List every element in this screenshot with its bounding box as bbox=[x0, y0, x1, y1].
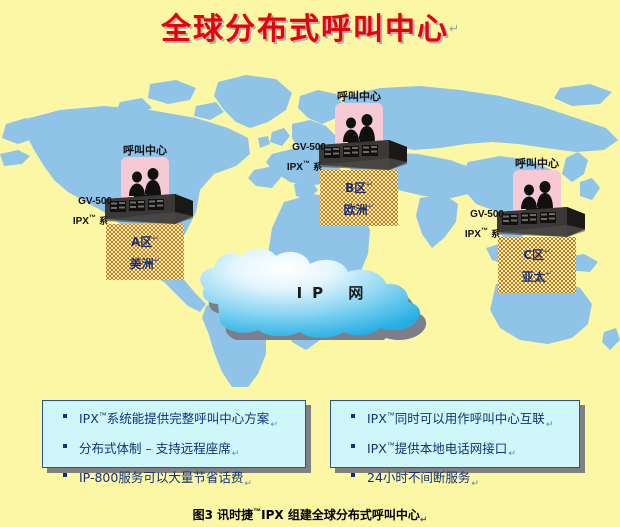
bullet-icon bbox=[63, 473, 67, 477]
pilcrow-mark: ↵ bbox=[152, 234, 159, 243]
site-node-europe[interactable]: 呼叫中心 bbox=[320, 88, 398, 228]
trademark-mark: ™ bbox=[89, 215, 96, 222]
region-code-text-europe: B区 bbox=[345, 181, 366, 195]
region-name-text-americas: 美洲 bbox=[130, 257, 154, 271]
trademark-mark: ™ bbox=[387, 441, 395, 450]
system-label-asiapac: IPX™系 bbox=[465, 227, 500, 240]
ip-network-cloud: IP 网 bbox=[196, 248, 464, 340]
system-label-text-americas: IPX bbox=[73, 216, 89, 227]
region-name-asiapac: 亚太↵ bbox=[498, 268, 576, 285]
region-code-text-asiapac: C区 bbox=[523, 248, 544, 262]
pilcrow-mark: ↵ bbox=[420, 515, 428, 525]
feature-right-item-1: IPX™同时可以用作呼叫中心互联↵ bbox=[367, 407, 573, 434]
feature-right-item-3-post: 24小时不间断服务 bbox=[367, 470, 470, 485]
list-item: IPX™系统能提供完整呼叫中心方案↵ bbox=[49, 407, 299, 434]
region-name-americas: 美洲↵ bbox=[106, 255, 184, 272]
pilcrow-mark: ↵ bbox=[368, 202, 375, 211]
page-title-text: 全球分布式呼叫中心 bbox=[161, 4, 449, 48]
system-label-europe: IPX™系 bbox=[287, 160, 322, 173]
bullet-icon bbox=[63, 444, 67, 448]
trademark-mark: ™ bbox=[253, 507, 261, 516]
trademark-mark: ™ bbox=[481, 228, 488, 235]
pilcrow-mark: ↵ bbox=[508, 449, 516, 459]
gv500-chassis-europe bbox=[319, 140, 407, 170]
server-chassis-icon bbox=[319, 140, 407, 170]
site-title-asiapac: 呼叫中心 bbox=[515, 155, 559, 171]
site-node-americas[interactable]: 呼叫中心 bbox=[106, 142, 184, 282]
list-item: 24小时不间断服务↵ bbox=[337, 466, 573, 493]
region-code-text-americas: A区 bbox=[131, 235, 152, 249]
trademark-mark: ™ bbox=[387, 411, 395, 420]
feature-left-item-2-post: 分布式体制 – 支持远程座席 bbox=[79, 441, 231, 456]
gv500-chassis-americas bbox=[105, 194, 193, 224]
device-label-asiapac: GV-500 bbox=[470, 209, 504, 220]
ip-cloud-label-text: IP 网 bbox=[297, 284, 374, 302]
region-name-text-asiapac: 亚太 bbox=[522, 270, 546, 284]
pilcrow-mark: ↵ bbox=[154, 256, 161, 265]
feature-right-item-2: IPX™提供本地电话网接口↵ bbox=[367, 437, 573, 464]
region-box-asiapac: C区↵ 亚太↵ bbox=[498, 237, 576, 293]
list-item: 分布式体制 – 支持远程座席↵ bbox=[49, 437, 299, 464]
pilcrow-mark: ↵ bbox=[471, 479, 479, 489]
device-label-europe: GV-500 bbox=[292, 142, 326, 153]
site-title-americas: 呼叫中心 bbox=[123, 142, 167, 158]
pilcrow-mark: ↵ bbox=[232, 449, 240, 459]
pilcrow-mark: ↵ bbox=[270, 420, 278, 430]
region-code-americas: A区↵ bbox=[106, 233, 184, 250]
diagram-page: 全球分布式呼叫中心↵ bbox=[0, 0, 620, 527]
list-item: IPX™提供本地电话网接口↵ bbox=[337, 437, 573, 464]
trademark-mark: ™ bbox=[303, 161, 310, 168]
ip-cloud-label: IP 网 bbox=[196, 282, 464, 303]
figure-caption: 图3 讯时捷™IPX 组建全球分布式呼叫中心↵ bbox=[0, 506, 620, 525]
feature-box-left: IPX™系统能提供完整呼叫中心方案↵ 分布式体制 – 支持远程座席↵ IP-80… bbox=[42, 400, 306, 468]
feature-left-item-2: 分布式体制 – 支持远程座席↵ bbox=[79, 437, 299, 464]
bullet-icon bbox=[351, 414, 355, 418]
feature-left-item-3-post: IP-800服务可以大量节省话费 bbox=[79, 470, 243, 485]
feature-right-item-1-pre: IPX bbox=[367, 411, 387, 426]
pilcrow-mark: ↵ bbox=[366, 180, 373, 189]
server-chassis-icon bbox=[497, 207, 585, 237]
bullet-icon bbox=[351, 473, 355, 477]
feature-right-item-2-pre: IPX bbox=[367, 441, 387, 456]
region-code-asiapac: C区↵ bbox=[498, 246, 576, 263]
region-name-text-europe: 欧洲 bbox=[344, 203, 368, 217]
region-box-americas: A区↵ 美洲↵ bbox=[106, 224, 184, 280]
system-label-text-asiapac: IPX bbox=[465, 229, 481, 240]
pilcrow-mark: ↵ bbox=[449, 22, 459, 36]
caption-suffix: IPX 组建全球分布式呼叫中心 bbox=[261, 508, 420, 522]
system-label-text-europe: IPX bbox=[287, 162, 303, 173]
region-code-europe: B区↵ bbox=[320, 179, 398, 196]
pilcrow-mark: ↵ bbox=[546, 269, 553, 278]
feature-left-item-3: IP-800服务可以大量节省话费↵ bbox=[79, 466, 299, 493]
system-label-americas: IPX™系 bbox=[73, 214, 108, 227]
feature-right-item-1-post: 同时可以用作呼叫中心互联 bbox=[395, 411, 545, 426]
list-item: IP-800服务可以大量节省话费↵ bbox=[49, 466, 299, 493]
page-title: 全球分布式呼叫中心↵ bbox=[0, 4, 620, 48]
list-item: IPX™同时可以用作呼叫中心互联↵ bbox=[337, 407, 573, 434]
region-name-europe: 欧洲↵ bbox=[320, 201, 398, 218]
feature-right-item-2-post: 提供本地电话网接口 bbox=[395, 441, 508, 456]
trademark-mark: ™ bbox=[99, 411, 107, 420]
feature-left-item-1: IPX™系统能提供完整呼叫中心方案↵ bbox=[79, 407, 299, 434]
caption-prefix: 图3 讯时捷 bbox=[193, 508, 254, 522]
device-label-americas: GV-500 bbox=[78, 196, 112, 207]
server-chassis-icon bbox=[105, 194, 193, 224]
feature-box-right: IPX™同时可以用作呼叫中心互联↵ IPX™提供本地电话网接口↵ 24小时不间断… bbox=[330, 400, 580, 468]
feature-right-item-3: 24小时不间断服务↵ bbox=[367, 466, 573, 493]
feature-left-item-1-post: 系统能提供完整呼叫中心方案 bbox=[107, 411, 270, 426]
pilcrow-mark: ↵ bbox=[244, 479, 252, 489]
region-box-europe: B区↵ 欧洲↵ bbox=[320, 170, 398, 226]
site-title-europe: 呼叫中心 bbox=[337, 88, 381, 104]
gv500-chassis-asiapac bbox=[497, 207, 585, 237]
feature-left-item-1-pre: IPX bbox=[79, 411, 99, 426]
pilcrow-mark: ↵ bbox=[546, 420, 554, 430]
bullet-icon bbox=[63, 414, 67, 418]
bullet-icon bbox=[351, 444, 355, 448]
pilcrow-mark: ↵ bbox=[544, 247, 551, 256]
site-node-asiapac[interactable]: 呼叫中心 bbox=[498, 155, 576, 295]
